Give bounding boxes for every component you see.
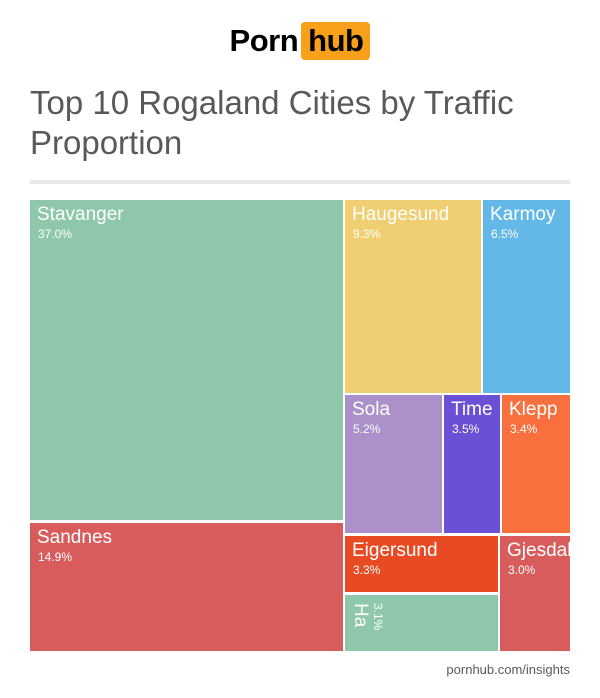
tile-value: 3.0% <box>508 563 535 578</box>
treemap-tile-karmoy[interactable]: Karmoy6.5% <box>483 200 570 393</box>
page-title: Top 10 Rogaland Cities by Traffic Propor… <box>30 83 570 163</box>
tile-value: 3.5% <box>452 422 479 437</box>
tile-label: Gjesdal <box>507 539 570 563</box>
tile-label: Sandnes <box>37 526 112 550</box>
tile-value: 3.4% <box>510 422 537 437</box>
treemap-tile-sola[interactable]: Sola5.2% <box>345 395 442 533</box>
treemap-tile-klepp[interactable]: Klepp3.4% <box>502 395 570 533</box>
tile-value: 3.1% <box>371 603 385 630</box>
tile-label: Stavanger <box>37 203 124 227</box>
logo-text: Pornhub <box>230 24 371 58</box>
tile-label: Klepp <box>509 398 558 422</box>
treemap-tile-gjesdal[interactable]: Gjesdal3.0% <box>500 536 570 651</box>
treemap-tile-time[interactable]: Time3.5% <box>444 395 500 533</box>
tile-label: Eigersund <box>352 539 438 563</box>
tile-value: 5.2% <box>353 422 380 437</box>
tile-value: 9.3% <box>353 227 380 242</box>
treemap-tile-sandnes[interactable]: Sandnes14.9% <box>30 523 343 651</box>
brand-logo: Pornhub <box>0 24 600 58</box>
tile-label: Karmoy <box>490 203 555 227</box>
tile-value: 14.9% <box>38 550 72 565</box>
infographic-page: Pornhub Top 10 Rogaland Cities by Traffi… <box>0 0 600 698</box>
logo-word-hub: hub <box>301 22 370 60</box>
tile-value: 3.3% <box>353 563 380 578</box>
treemap-tile-eigersund[interactable]: Eigersund3.3% <box>345 536 498 592</box>
tile-label: Ha <box>349 603 371 627</box>
source-attribution: pornhub.com/insights <box>0 662 570 678</box>
treemap-tile-stavanger[interactable]: Stavanger37.0% <box>30 200 343 520</box>
logo-word-porn: Porn <box>230 23 299 58</box>
treemap-tile-ha[interactable]: Ha3.1% <box>345 595 498 651</box>
tile-value: 6.5% <box>491 227 518 242</box>
tile-value: 37.0% <box>38 227 72 242</box>
title-separator <box>30 180 570 184</box>
tile-label: Haugesund <box>352 203 449 227</box>
tile-label: Sola <box>352 398 390 422</box>
tile-label: Time <box>451 398 493 422</box>
treemap-chart: Stavanger37.0%Sandnes14.9%Haugesund9.3%K… <box>30 200 570 651</box>
treemap-tile-haugesund[interactable]: Haugesund9.3% <box>345 200 481 393</box>
